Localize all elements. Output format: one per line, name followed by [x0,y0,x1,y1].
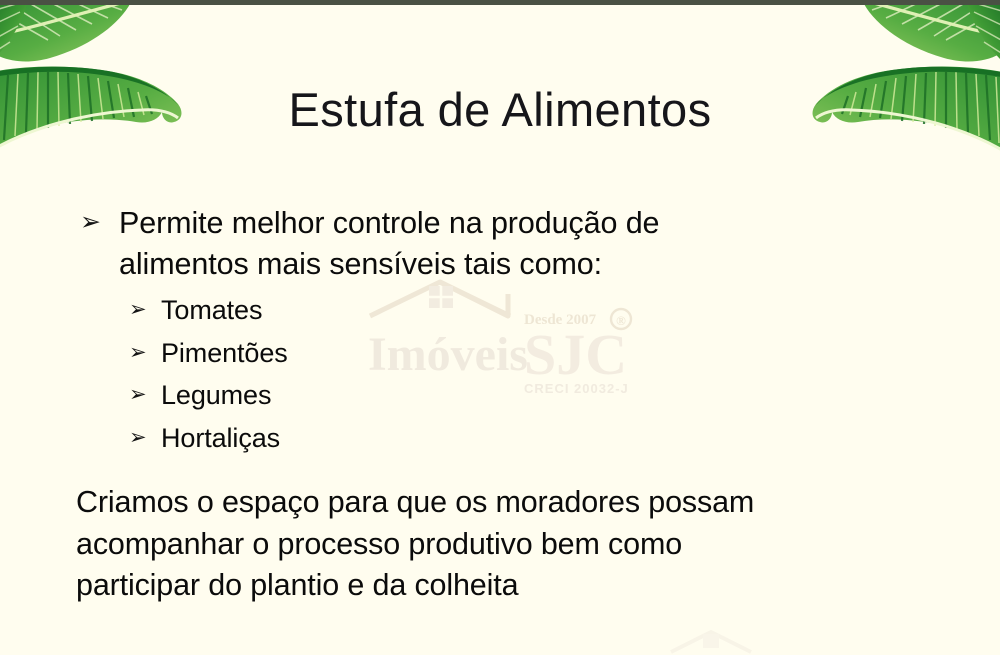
closing-paragraph: Criamos o espaço para que os moradores p… [76,482,876,607]
list-item: ➢ Legumes [129,374,936,417]
bullet-level2-label: Legumes [161,380,271,410]
list-item: ➢ Pimentões [129,332,936,375]
page-title: Estufa de Alimentos [0,82,1000,137]
arrow-bullet-icon: ➢ [129,332,147,375]
closing-line1: Criamos o espaço para que os moradores p… [76,482,876,524]
arrow-bullet-icon: ➢ [129,417,147,460]
bullet-level2-label: Hortaliças [161,423,280,453]
bullet-level2-label: Tomates [161,295,262,325]
arrow-bullet-icon: ➢ [129,374,147,417]
body-content: ➢ Permite melhor controle na produção de… [76,203,936,607]
bullet-level1-line1: Permite melhor controle na produção de [119,206,659,240]
list-item: ➢ Hortaliças [129,417,936,460]
slide-content: Estufa de Alimentos ➢ Permite melhor con… [0,0,1000,655]
arrow-bullet-icon: ➢ [80,202,101,243]
bullet-level1-line2: alimentos mais sensíveis tais como: [119,247,602,281]
closing-line3: participar do plantio e da colheita [76,565,876,607]
arrow-bullet-icon: ➢ [129,289,147,332]
bullet-level1-item: ➢ Permite melhor controle na produção de… [76,203,936,285]
slide-canvas: Desde 2007 ® Imóveis SJC CRECI 20032-J E… [0,0,1000,655]
top-edge-strip [0,0,1000,5]
closing-line2: acompanhar o processo produtivo bem como [76,524,876,566]
bullet-level2-list: ➢ Tomates ➢ Pimentões ➢ Legumes ➢ Hortal… [129,289,936,459]
bullet-level2-label: Pimentões [161,338,288,368]
list-item: ➢ Tomates [129,289,936,332]
